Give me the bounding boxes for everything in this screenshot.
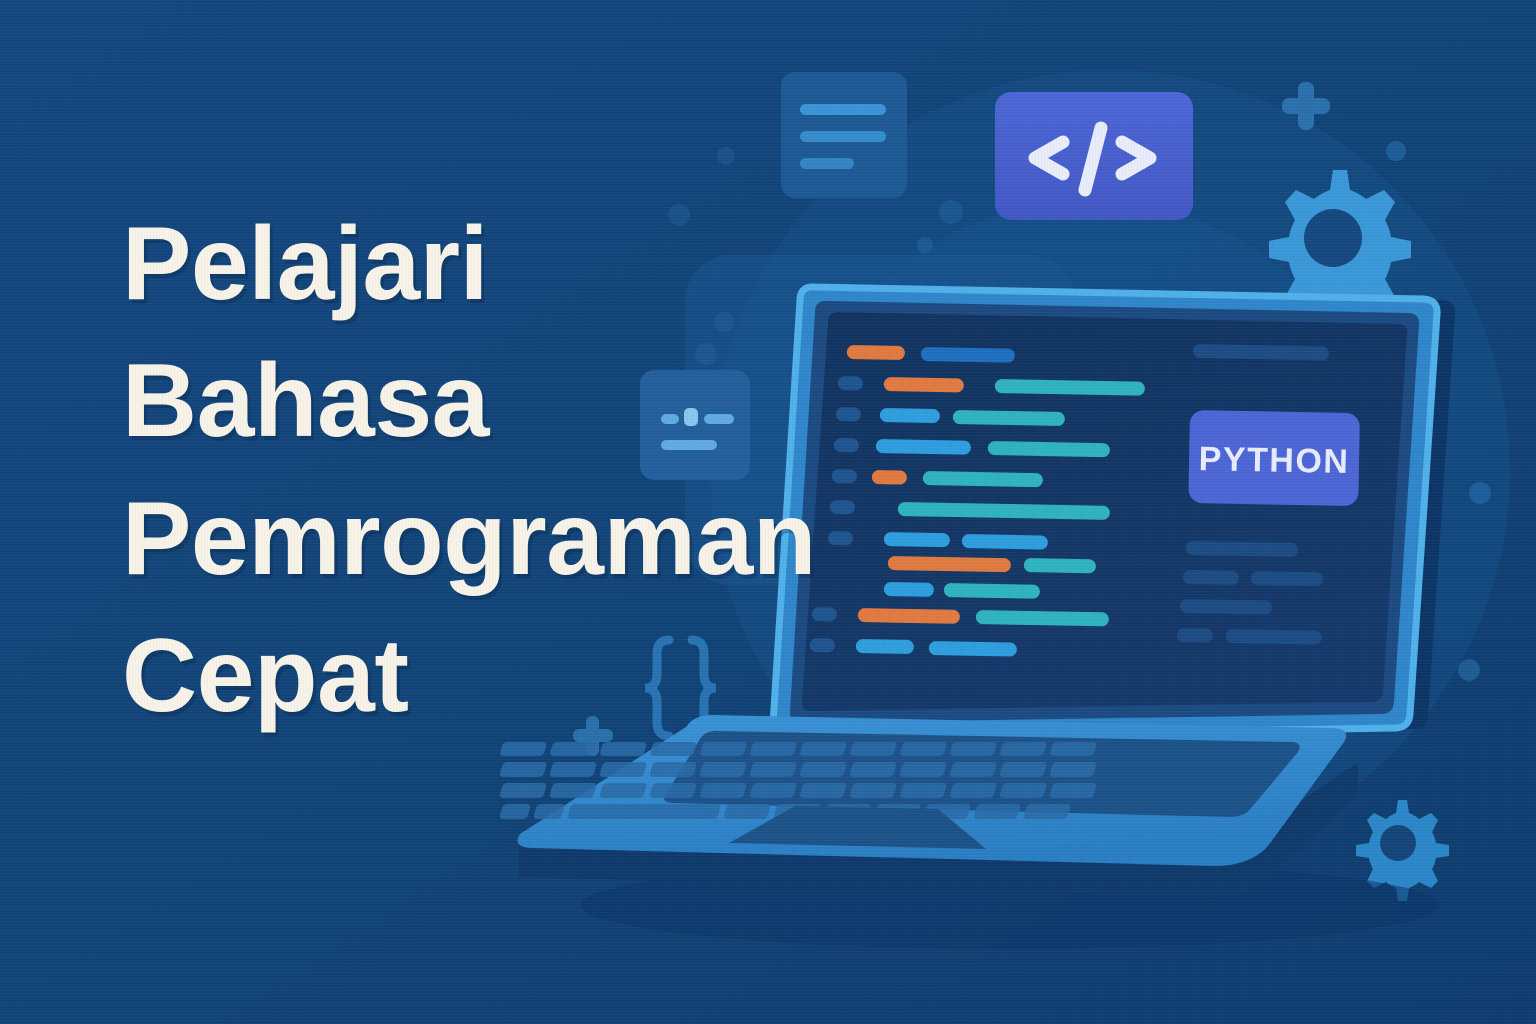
python-badge: PYTHON bbox=[1188, 410, 1360, 506]
terminal-card bbox=[640, 370, 750, 480]
code-tag-badge bbox=[995, 92, 1193, 220]
illustration-canvas: PYTHON bbox=[0, 0, 1536, 1024]
python-badge-label: PYTHON bbox=[1198, 440, 1349, 481]
document-card bbox=[781, 72, 907, 198]
